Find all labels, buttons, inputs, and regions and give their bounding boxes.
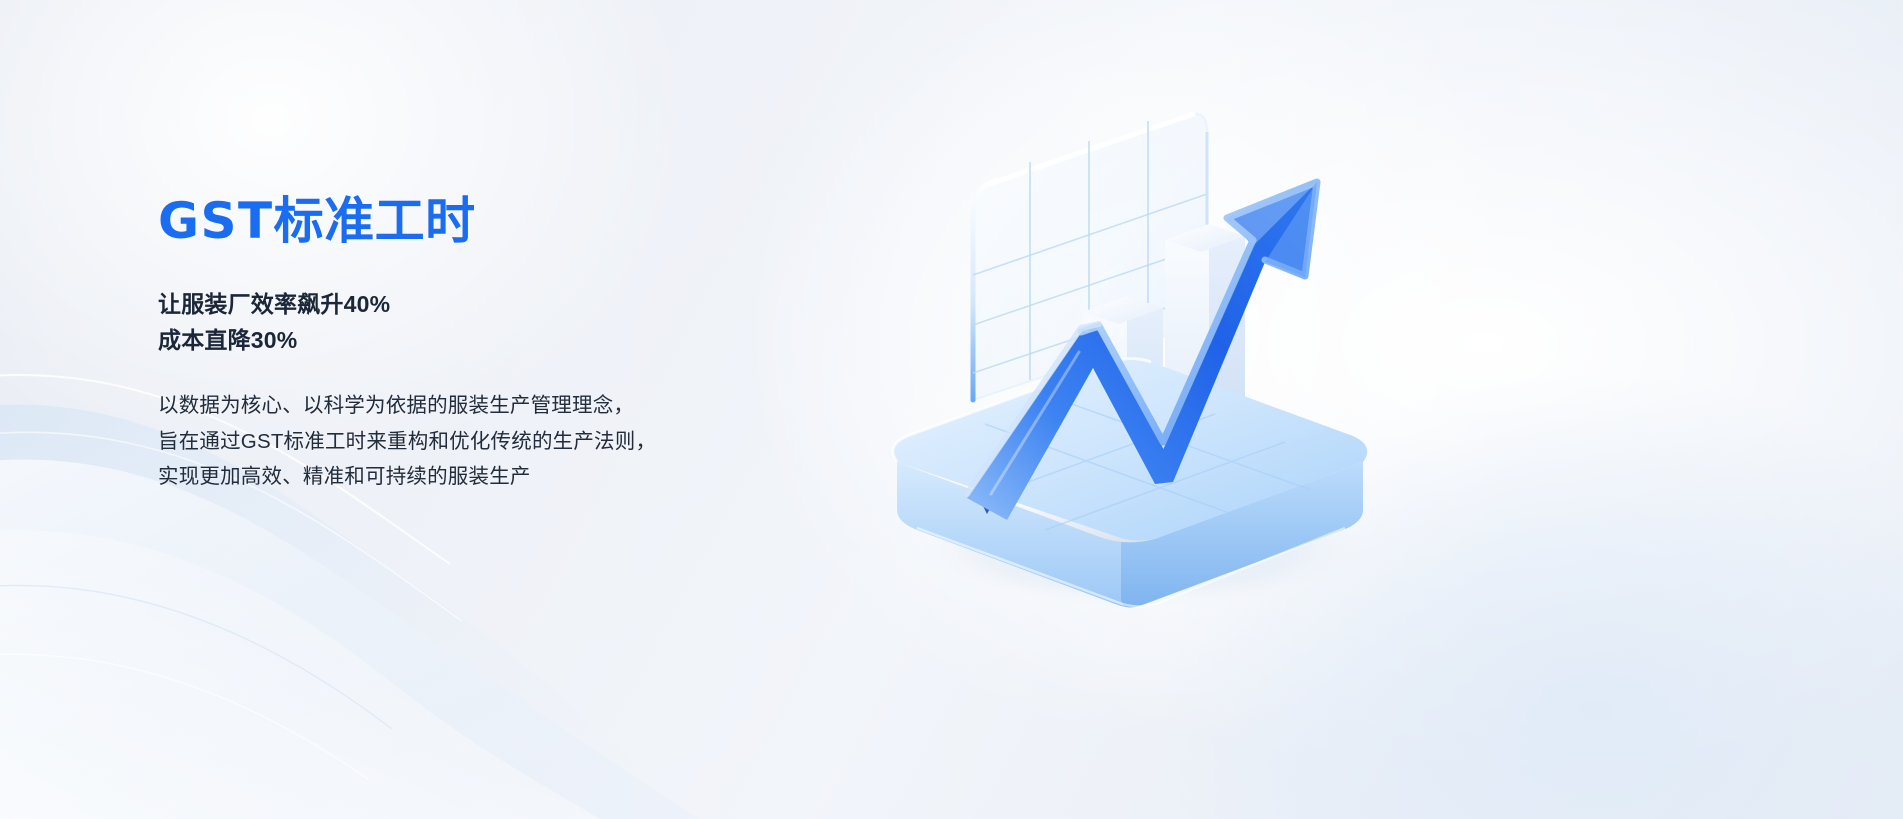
description-line-1: 以数据为核心、以科学为依据的服装生产管理理念， xyxy=(158,388,778,423)
page-title: GST标准工时 xyxy=(158,192,778,251)
description-line-3: 实现更加高效、精准和可持续的服装生产 xyxy=(158,459,778,494)
description-line-2: 旨在通过GST标准工时来重构和优化传统的生产法则， xyxy=(158,424,778,459)
hero-description: 以数据为核心、以科学为依据的服装生产管理理念， 旨在通过GST标准工时来重构和优… xyxy=(158,388,778,494)
page-title-cn: 标准工时 xyxy=(274,193,476,249)
hero-copy: GST标准工时 让服装厂效率飙升40% 成本直降30% 以数据为核心、以科学为依… xyxy=(158,192,778,494)
page-title-en: GST xyxy=(158,192,274,250)
hero-banner: GST标准工时 让服装厂效率飙升40% 成本直降30% 以数据为核心、以科学为依… xyxy=(0,0,1903,819)
growth-chart-illustration xyxy=(855,70,1415,630)
hero-subheadline: 让服装厂效率飙升40% 成本直降30% xyxy=(158,287,778,358)
subheadline-line-1: 让服装厂效率飙升40% xyxy=(158,287,778,323)
subheadline-line-2: 成本直降30% xyxy=(158,323,778,359)
